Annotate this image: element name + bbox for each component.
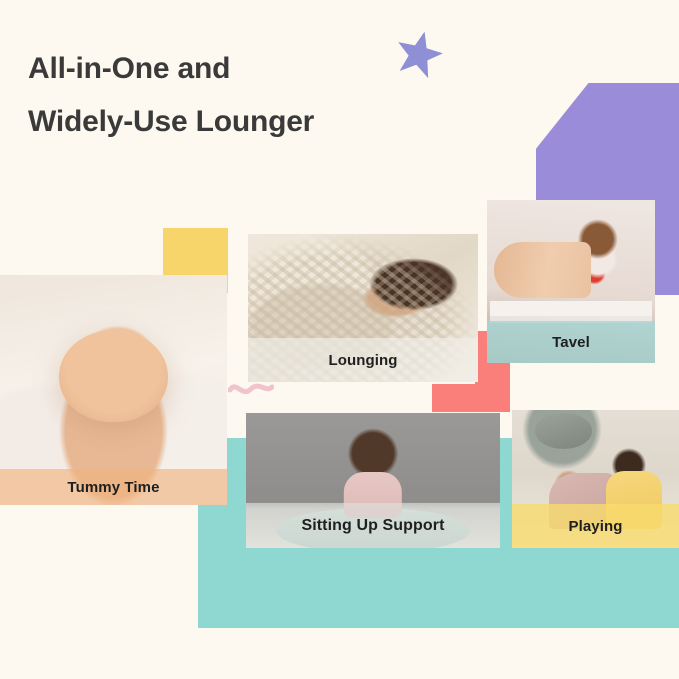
caption-label-tummy-time: Tummy Time bbox=[67, 479, 159, 496]
caption-band-playing: Playing bbox=[512, 504, 679, 548]
feature-card-tummy-time[interactable]: Tummy Time bbox=[0, 275, 227, 505]
feature-card-lounging[interactable]: Lounging bbox=[248, 234, 478, 382]
caption-label-lounging: Lounging bbox=[328, 352, 397, 369]
caption-label-tavel: Tavel bbox=[552, 334, 590, 351]
page-title: All-in-One and Widely-Use Lounger bbox=[28, 42, 458, 149]
caption-band-tavel: Tavel bbox=[487, 321, 655, 363]
feature-card-tavel[interactable]: Tavel bbox=[487, 200, 655, 363]
caption-band-tummy-time: Tummy Time bbox=[0, 469, 227, 505]
caption-band-sitting-up-support: Sitting Up Support bbox=[246, 503, 500, 548]
caption-label-sitting-up-support: Sitting Up Support bbox=[301, 517, 444, 535]
caption-label-playing: Playing bbox=[568, 518, 622, 535]
feature-card-sitting-up-support[interactable]: Sitting Up Support bbox=[246, 413, 500, 548]
caption-band-lounging: Lounging bbox=[248, 338, 478, 382]
pillow-detail bbox=[535, 413, 592, 449]
coral-accent-horizontal bbox=[432, 384, 510, 412]
bench-detail bbox=[490, 301, 651, 316]
feature-card-playing[interactable]: Playing bbox=[512, 410, 679, 548]
product-infographic: All-in-One and Widely-Use Lounger Tummy … bbox=[0, 0, 679, 679]
